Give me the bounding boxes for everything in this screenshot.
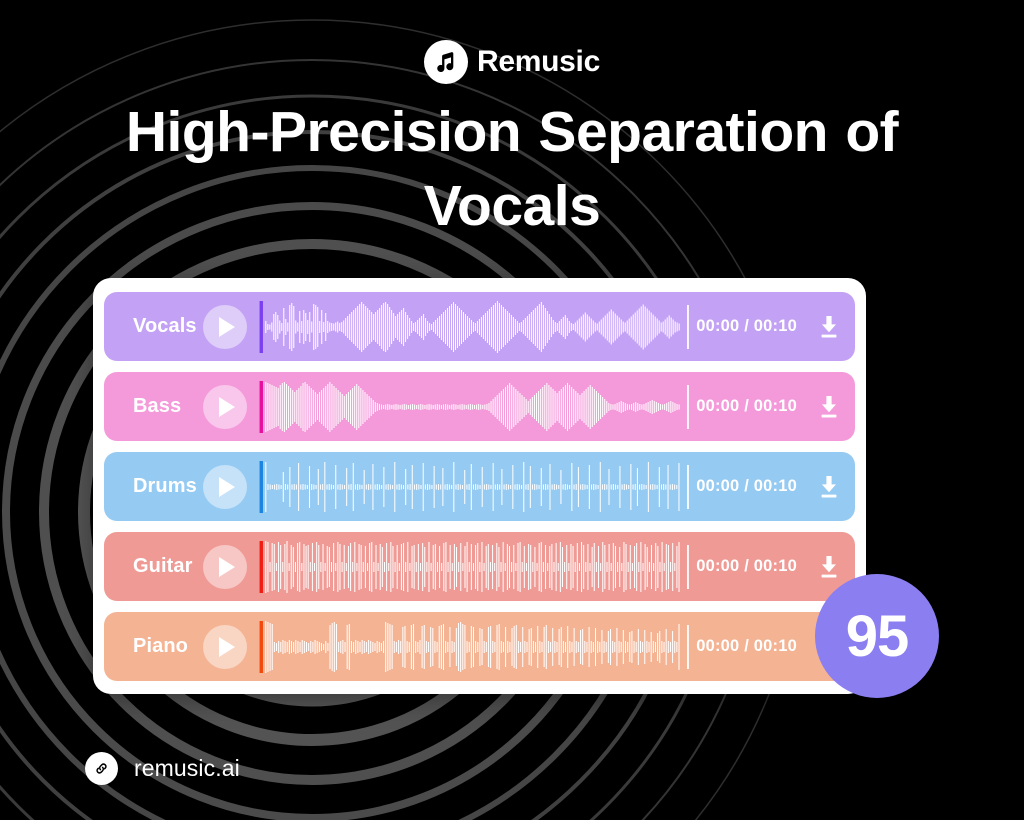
play-triangle <box>219 397 235 417</box>
waveform[interactable] <box>259 379 690 435</box>
footer-url[interactable]: remusic.ai <box>134 755 240 782</box>
brand-name: Remusic <box>477 47 600 77</box>
track-label: Bass <box>104 395 203 418</box>
track-time: 00:00 / 00:10 <box>696 317 797 336</box>
track-row[interactable]: Guitar00:00 / 00:10 <box>104 532 855 601</box>
track-row[interactable]: Piano00:00 / 00:10 <box>104 612 855 681</box>
track-row[interactable]: Drums00:00 / 00:10 <box>104 452 855 521</box>
header: Remusic High-Precision Separation of Voc… <box>0 0 1024 243</box>
track-label: Vocals <box>104 315 203 338</box>
track-row[interactable]: Bass00:00 / 00:10 <box>104 372 855 441</box>
track-label: Guitar <box>104 555 203 578</box>
play-icon[interactable] <box>203 305 247 349</box>
play-triangle <box>219 637 235 657</box>
link-icon <box>85 752 118 785</box>
play-triangle <box>219 317 235 337</box>
waveform[interactable] <box>259 299 690 355</box>
brand: Remusic <box>0 38 1024 86</box>
download-icon[interactable] <box>817 314 841 340</box>
track-time: 00:00 / 00:10 <box>696 557 797 576</box>
play-icon[interactable] <box>203 625 247 669</box>
play-triangle <box>219 477 235 497</box>
play-triangle <box>219 557 235 577</box>
stem-tracks-card: Vocals00:00 / 00:10Bass00:00 / 00:10Drum… <box>93 278 866 694</box>
score-badge: 95 <box>815 574 939 698</box>
play-icon[interactable] <box>203 465 247 509</box>
download-icon[interactable] <box>817 394 841 420</box>
waveform[interactable] <box>259 459 690 515</box>
track-label: Piano <box>104 635 203 658</box>
track-time: 00:00 / 00:10 <box>696 477 797 496</box>
track-time: 00:00 / 00:10 <box>696 397 797 416</box>
track-time: 00:00 / 00:10 <box>696 637 797 656</box>
play-icon[interactable] <box>203 545 247 589</box>
download-icon[interactable] <box>817 554 841 580</box>
play-icon[interactable] <box>203 385 247 429</box>
track-row[interactable]: Vocals00:00 / 00:10 <box>104 292 855 361</box>
waveform[interactable] <box>259 619 690 675</box>
footer: remusic.ai <box>85 752 240 785</box>
download-icon[interactable] <box>817 474 841 500</box>
poster-canvas: Remusic High-Precision Separation of Voc… <box>0 0 1024 820</box>
waveform[interactable] <box>259 539 690 595</box>
track-label: Drums <box>104 475 203 498</box>
page-title: High-Precision Separation of Vocals <box>0 96 1024 243</box>
music-note-circle-icon <box>424 40 468 84</box>
